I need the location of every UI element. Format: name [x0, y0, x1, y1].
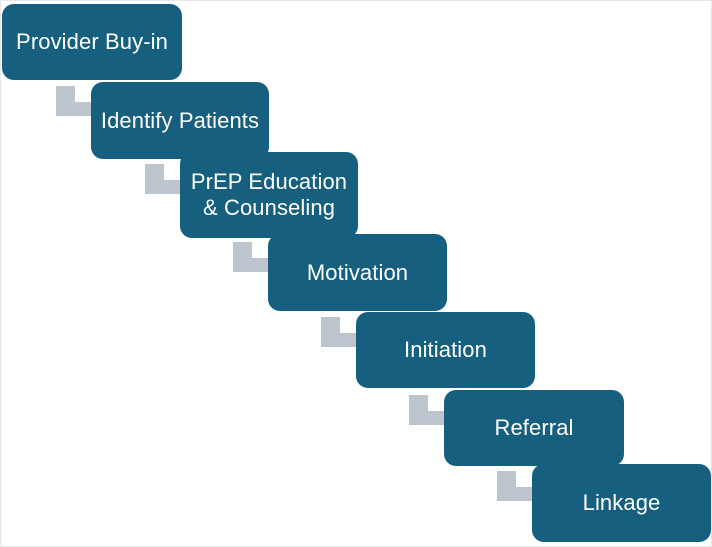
connector-icon [233, 242, 269, 272]
cascade-step-box-1[interactable]: Provider Buy-in [2, 4, 182, 80]
step-connector-elbow-6 [497, 471, 533, 501]
cascade-step-label-3: PrEP Education & Counseling [186, 169, 352, 221]
step-connector-elbow-1 [56, 86, 92, 116]
cascade-step-box-5[interactable]: Initiation [356, 312, 535, 388]
cascade-step-label-1: Provider Buy-in [8, 29, 176, 55]
diagram-canvas: Provider Buy-inIdentify PatientsPrEP Edu… [0, 0, 712, 547]
cascade-step-box-3[interactable]: PrEP Education & Counseling [180, 152, 358, 238]
cascade-step-label-7: Linkage [538, 490, 705, 516]
cascade-step-label-6: Referral [450, 415, 618, 441]
cascade-step-box-7[interactable]: Linkage [532, 464, 711, 542]
cascade-step-box-4[interactable]: Motivation [268, 234, 447, 311]
cascade-step-box-2[interactable]: Identify Patients [91, 82, 269, 159]
cascade-step-label-4: Motivation [274, 260, 441, 286]
connector-icon [145, 164, 181, 194]
connector-icon [409, 395, 445, 425]
cascade-step-box-6[interactable]: Referral [444, 390, 624, 466]
cascade-step-label-5: Initiation [362, 337, 529, 363]
step-connector-elbow-5 [409, 395, 445, 425]
cascade-step-label-2: Identify Patients [97, 108, 263, 134]
step-connector-elbow-3 [233, 242, 269, 272]
step-connector-elbow-2 [145, 164, 181, 194]
connector-icon [321, 317, 357, 347]
connector-icon [497, 471, 533, 501]
connector-icon [56, 86, 92, 116]
step-connector-elbow-4 [321, 317, 357, 347]
